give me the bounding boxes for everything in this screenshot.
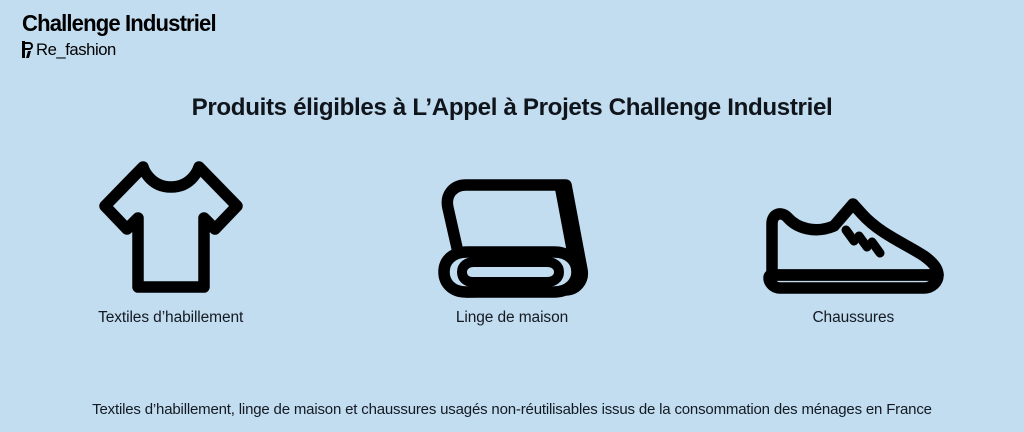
footer-caption: Textiles d’habillement, linge de maison … [0, 401, 1024, 418]
tshirt-icon [83, 148, 259, 300]
category-item-textiles: Textiles d’habillement [0, 148, 341, 338]
folded-linen-icon [426, 148, 598, 300]
logo-secondary-lockup: Re_fashion [22, 41, 224, 58]
category-label-linen: Linge de maison [456, 309, 568, 327]
refashion-r-mark-icon [22, 41, 35, 58]
category-row: Textiles d’habillement Linge de maison [0, 148, 1024, 338]
page-title: Produits éligibles à L’Appel à Projets C… [8, 94, 1017, 122]
category-item-shoes: Chaussures [683, 148, 1024, 338]
category-item-linen: Linge de maison [341, 148, 682, 338]
category-label-textiles: Textiles d’habillement [98, 309, 243, 327]
category-label-shoes: Chaussures [812, 309, 894, 327]
brand-logo: Challenge Industriel Re_fashion [22, 12, 224, 58]
logo-secondary-text: Re_fashion [36, 41, 116, 58]
sneaker-shoe-icon [758, 148, 948, 300]
slide-root: Challenge Industriel Re_fashion Produits… [0, 0, 1024, 432]
logo-primary-text: Challenge Industriel [22, 12, 216, 35]
